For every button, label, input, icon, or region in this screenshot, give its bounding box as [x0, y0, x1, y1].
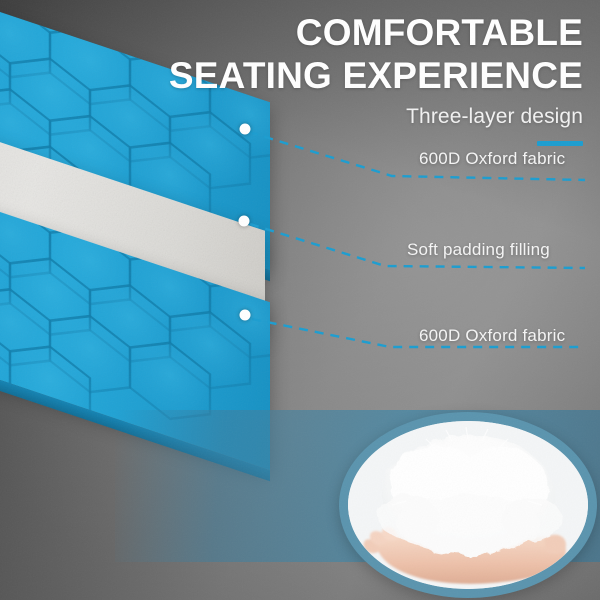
title-line-2: SEATING EXPERIENCE — [169, 54, 583, 97]
filling-closeup-frame — [339, 412, 597, 598]
infographic-canvas: COMFORTABLE SEATING EXPERIENCE Three-lay… — [0, 0, 600, 600]
accent-bar — [537, 141, 583, 146]
filling-closeup-photo — [348, 421, 588, 589]
subtitle: Three-layer design — [169, 102, 583, 132]
title-line-1: COMFORTABLE — [169, 11, 583, 54]
layer-bottom-mat — [0, 222, 270, 390]
headline-block: COMFORTABLE SEATING EXPERIENCE Three-lay… — [169, 11, 583, 146]
